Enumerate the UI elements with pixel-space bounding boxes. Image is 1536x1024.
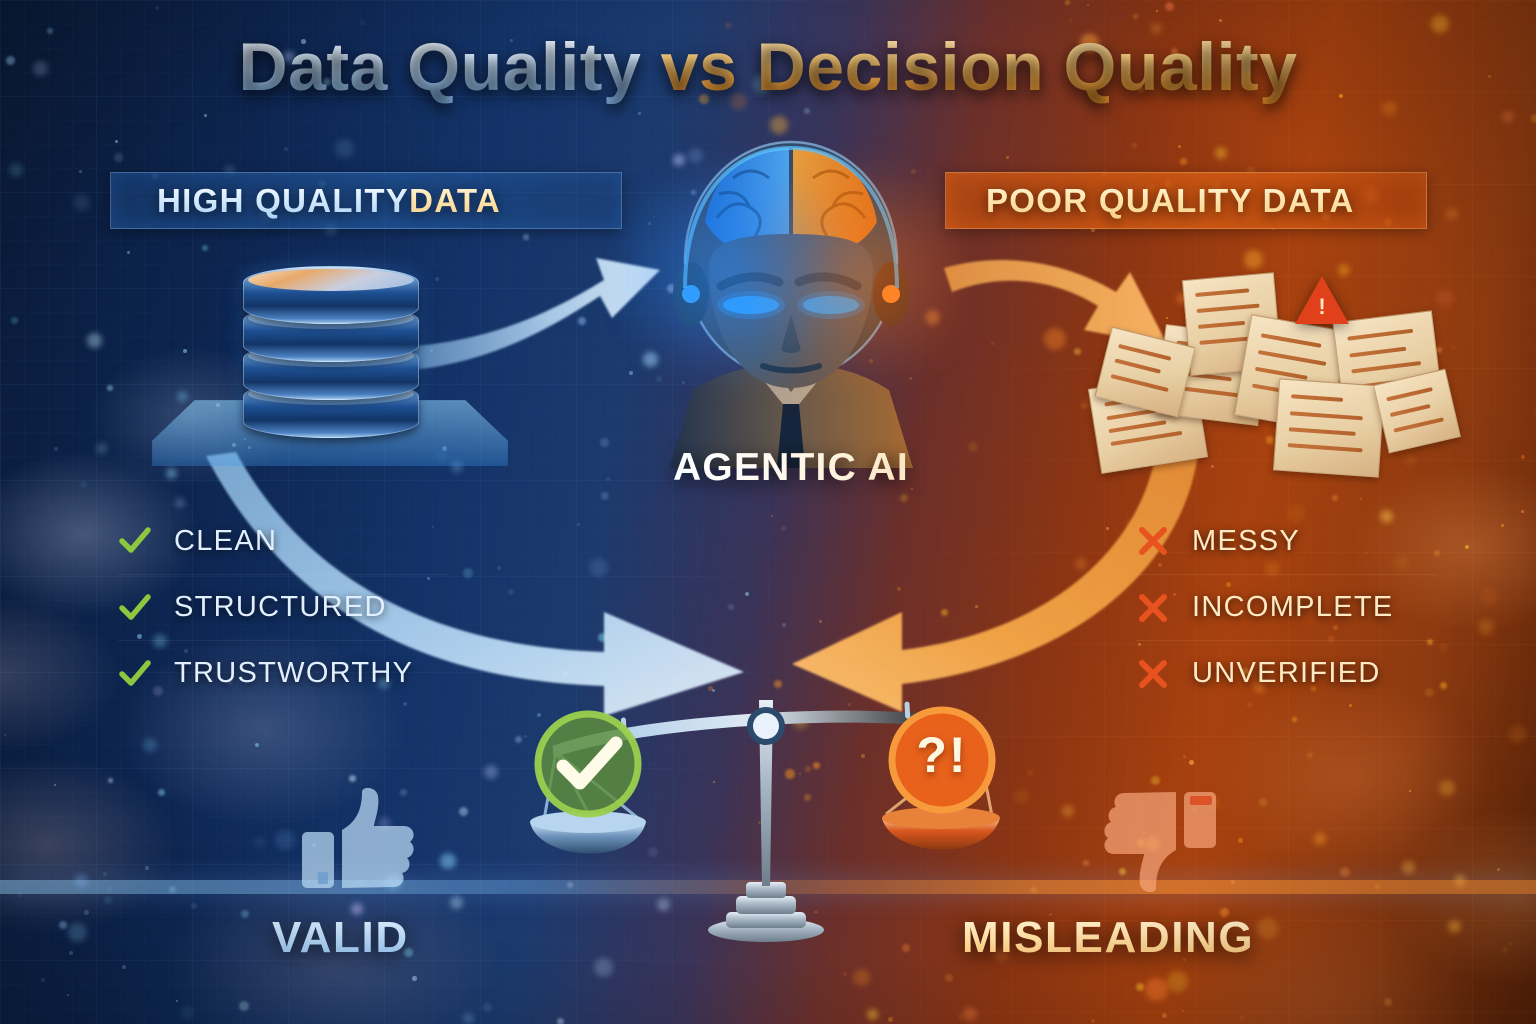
infographic-canvas: Data Quality vs Decision Quality HIGH QU… bbox=[0, 0, 1536, 1024]
vignette-overlay bbox=[0, 0, 1536, 1024]
